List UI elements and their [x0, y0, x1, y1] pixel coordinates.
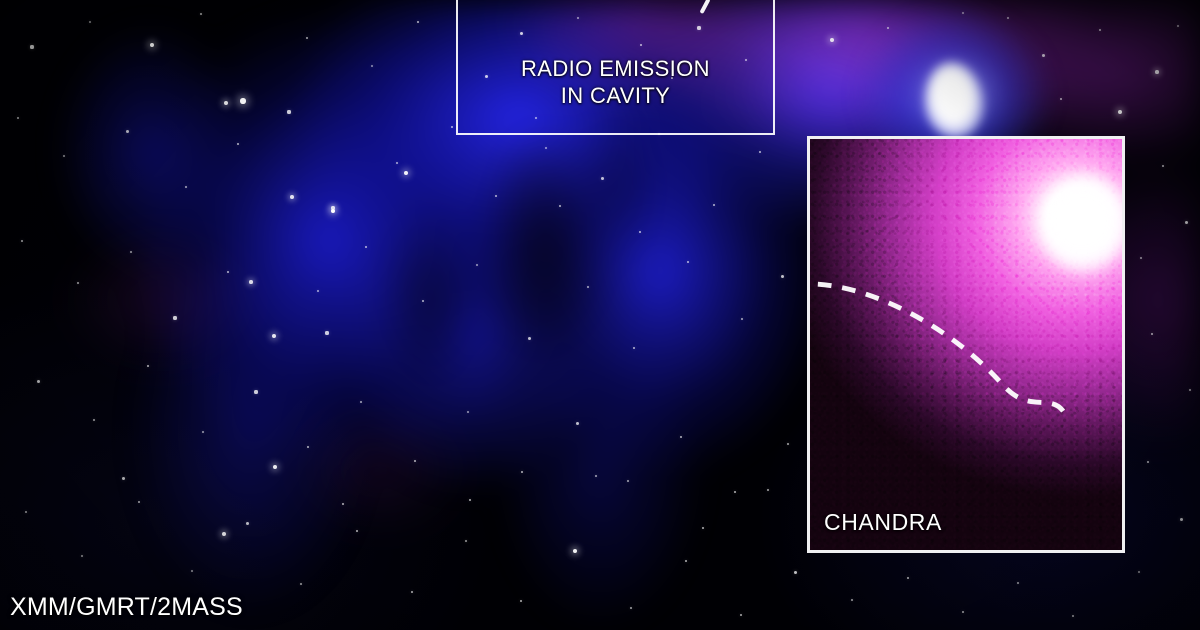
star	[962, 12, 964, 14]
star	[224, 101, 228, 105]
star	[404, 171, 408, 175]
star	[138, 501, 141, 504]
star	[734, 491, 737, 494]
star	[417, 21, 420, 24]
star	[396, 162, 398, 164]
star	[887, 27, 890, 30]
image-credit-label: XMM/GMRT/2MASS	[10, 593, 243, 622]
star	[1072, 615, 1075, 618]
star	[1138, 571, 1140, 573]
star	[451, 126, 454, 129]
star	[1060, 98, 1063, 101]
star	[30, 45, 33, 48]
star	[89, 21, 91, 23]
star	[633, 347, 636, 350]
star	[185, 186, 187, 188]
star	[713, 204, 716, 207]
star	[469, 499, 472, 502]
star	[781, 275, 784, 278]
star	[422, 300, 425, 303]
chandra-inset-panel: CHANDRA	[807, 136, 1125, 553]
star	[545, 147, 547, 149]
star	[767, 489, 769, 491]
star	[741, 318, 743, 320]
star	[272, 334, 276, 338]
shock-front-dashed-curve-icon	[810, 139, 1122, 548]
star	[1042, 54, 1045, 57]
star	[573, 549, 577, 553]
star	[21, 240, 24, 243]
star	[595, 475, 597, 477]
star	[759, 151, 762, 154]
star	[93, 419, 95, 421]
astronomy-composite-image: RADIO EMISSION IN CAVITY CHANDRA XMM/GMR…	[0, 0, 1200, 630]
star	[17, 117, 20, 120]
star	[371, 65, 373, 67]
star	[794, 571, 797, 574]
chandra-inset-label: CHANDRA	[824, 509, 942, 536]
star	[787, 443, 789, 445]
star	[287, 110, 290, 113]
star	[130, 251, 132, 253]
star	[1147, 461, 1150, 464]
star	[273, 465, 277, 469]
star	[414, 460, 417, 463]
star	[740, 614, 743, 617]
star	[680, 436, 683, 439]
star	[317, 290, 319, 292]
star	[249, 280, 253, 284]
star	[587, 286, 589, 288]
star	[685, 560, 688, 563]
star	[1162, 165, 1165, 168]
star	[907, 577, 910, 580]
star	[240, 98, 245, 103]
star	[360, 401, 362, 403]
star	[528, 337, 531, 340]
star	[687, 261, 690, 264]
star	[962, 611, 965, 614]
star	[81, 555, 83, 557]
star	[520, 600, 523, 603]
star	[411, 591, 414, 594]
star	[467, 411, 469, 413]
star	[202, 431, 204, 433]
star	[521, 471, 524, 474]
star	[173, 316, 176, 319]
star	[63, 155, 65, 157]
star	[126, 130, 129, 133]
star	[1007, 17, 1009, 19]
star	[851, 599, 853, 601]
star	[300, 583, 302, 585]
star	[495, 195, 498, 198]
star	[1189, 389, 1191, 391]
star	[306, 37, 309, 40]
star	[246, 522, 249, 525]
star	[342, 503, 345, 506]
star	[325, 331, 328, 334]
star	[1017, 582, 1019, 584]
star	[1185, 221, 1188, 224]
star	[702, 527, 705, 530]
radio-emission-label: RADIO EMISSION IN CAVITY	[456, 55, 775, 109]
star	[1177, 25, 1179, 27]
star	[237, 143, 240, 146]
star	[1118, 110, 1122, 114]
star	[356, 530, 359, 533]
star	[830, 38, 834, 42]
star	[627, 480, 629, 482]
star	[147, 365, 150, 368]
star	[227, 271, 230, 274]
star	[290, 195, 294, 199]
star	[307, 446, 310, 449]
star	[1155, 70, 1159, 74]
star	[150, 43, 155, 48]
star	[222, 532, 226, 536]
star	[37, 380, 40, 383]
star	[1151, 333, 1154, 336]
star	[601, 177, 604, 180]
star	[254, 390, 257, 393]
star	[122, 477, 125, 480]
star	[639, 231, 642, 234]
star	[25, 511, 28, 514]
star	[77, 282, 79, 284]
star	[576, 422, 579, 425]
star	[1099, 29, 1102, 32]
star	[365, 246, 368, 249]
star	[559, 205, 562, 208]
star	[465, 540, 467, 542]
star	[191, 570, 193, 572]
star	[331, 206, 334, 209]
star	[1140, 257, 1142, 259]
star	[476, 264, 478, 266]
star	[1180, 518, 1183, 521]
star	[630, 607, 632, 609]
star	[200, 13, 202, 15]
